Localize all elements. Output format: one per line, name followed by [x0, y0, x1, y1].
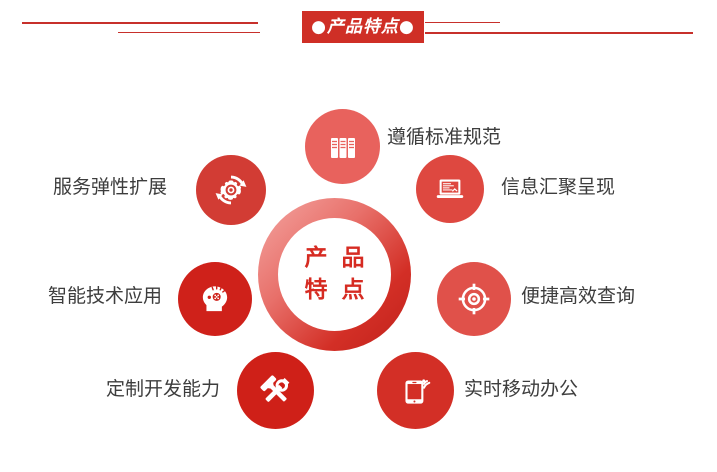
feature-icon-query[interactable] [437, 262, 511, 336]
books-icon [325, 129, 361, 165]
feature-icon-standards[interactable] [305, 109, 380, 184]
mobile-signal-icon [397, 372, 435, 410]
header-rule-right-upper [425, 22, 500, 23]
section-header: ●产品特点● [0, 0, 717, 52]
center-hub-line-2: 特 点 [301, 275, 367, 306]
feature-icon-info[interactable] [416, 155, 484, 223]
head-brain-icon [196, 280, 234, 318]
section-title-badge: ●产品特点● [302, 11, 424, 43]
feature-icon-mobile[interactable] [377, 352, 454, 429]
feature-label-scale: 服务弹性扩展 [53, 178, 167, 197]
feature-label-info: 信息汇聚呈现 [501, 178, 615, 197]
center-hub-ring: 产 品 特 点 [258, 198, 411, 351]
feature-label-ai: 智能技术应用 [48, 287, 162, 306]
laptop-chart-icon [433, 172, 467, 206]
section-title-text: ●产品特点● [311, 19, 415, 36]
hammer-wrench-icon [256, 371, 296, 411]
header-rule-left-lower [118, 32, 260, 33]
feature-label-dev: 定制开发能力 [106, 380, 220, 399]
feature-icon-scale[interactable] [196, 155, 266, 225]
feature-icon-dev[interactable] [237, 352, 314, 429]
feature-label-mobile: 实时移动办公 [464, 380, 578, 399]
feature-icon-ai[interactable] [178, 262, 252, 336]
feature-label-standards: 遵循标准规范 [387, 128, 501, 147]
crosshair-target-icon [455, 280, 493, 318]
gear-refresh-icon [213, 172, 249, 208]
center-hub-line-1: 产 品 [301, 243, 367, 274]
header-rule-left-upper [22, 22, 258, 24]
header-rule-right-lower [425, 32, 693, 34]
feature-label-query: 便捷高效查询 [521, 287, 635, 306]
center-hub-inner: 产 品 特 点 [278, 218, 391, 331]
